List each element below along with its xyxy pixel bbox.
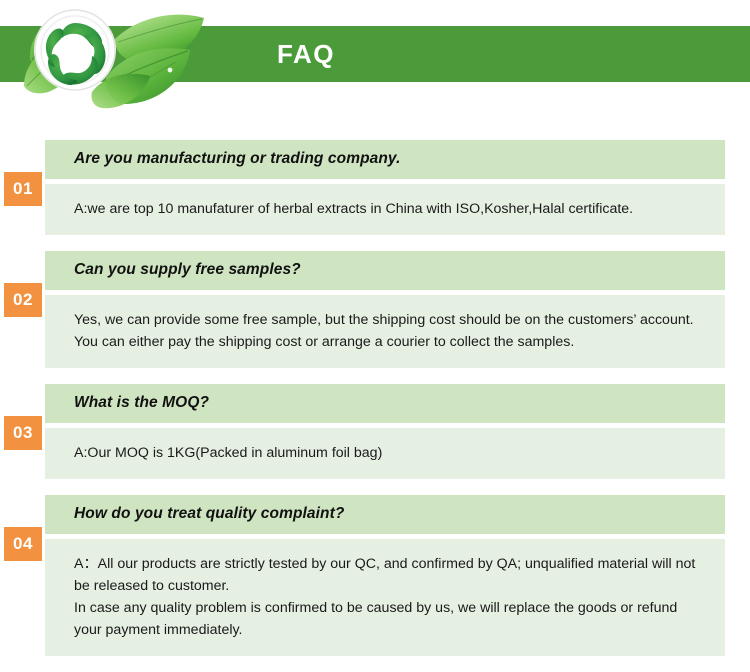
faq-item: 02 Can you supply free samples? Yes, we … — [0, 251, 750, 368]
faq-answer-line: A:Our MOQ is 1KG(Packed in aluminum foil… — [74, 442, 705, 464]
faq-body: How do you treat quality complaint? A：Al… — [45, 495, 725, 656]
faq-item: 01 Are you manufacturing or trading comp… — [0, 140, 750, 235]
faq-answer-line: A：All our products are strictly tested b… — [74, 553, 705, 597]
faq-number-badge: 04 — [4, 527, 42, 561]
faq-number-badge: 03 — [4, 416, 42, 450]
faq-answer-line: A:we are top 10 manufaturer of herbal ex… — [74, 198, 705, 220]
faq-answer: Yes, we can provide some free sample, bu… — [45, 295, 725, 368]
faq-answer-line: Yes, we can provide some free sample, bu… — [74, 309, 705, 353]
page-title: FAQ — [277, 40, 335, 68]
faq-answer: A：All our products are strictly tested b… — [45, 539, 725, 656]
faq-item: 04 How do you treat quality complaint? A… — [0, 495, 750, 656]
faq-question[interactable]: Are you manufacturing or trading company… — [45, 140, 725, 179]
faq-list: 01 Are you manufacturing or trading comp… — [0, 140, 750, 672]
green-leaf-recycle-logo — [18, 0, 223, 112]
faq-answer-line: In case any quality problem is confirmed… — [74, 597, 705, 641]
faq-body: Can you supply free samples? Yes, we can… — [45, 251, 725, 368]
faq-answer: A:we are top 10 manufaturer of herbal ex… — [45, 184, 725, 235]
faq-question[interactable]: What is the MOQ? — [45, 384, 725, 423]
faq-question[interactable]: Can you supply free samples? — [45, 251, 725, 290]
faq-question[interactable]: How do you treat quality complaint? — [45, 495, 725, 534]
faq-number-badge: 01 — [4, 172, 42, 206]
faq-item: 03 What is the MOQ? A:Our MOQ is 1KG(Pac… — [0, 384, 750, 479]
page-header: FAQ — [0, 0, 750, 112]
faq-answer: A:Our MOQ is 1KG(Packed in aluminum foil… — [45, 428, 725, 479]
faq-body: Are you manufacturing or trading company… — [45, 140, 725, 235]
faq-body: What is the MOQ? A:Our MOQ is 1KG(Packed… — [45, 384, 725, 479]
faq-number-badge: 02 — [4, 283, 42, 317]
